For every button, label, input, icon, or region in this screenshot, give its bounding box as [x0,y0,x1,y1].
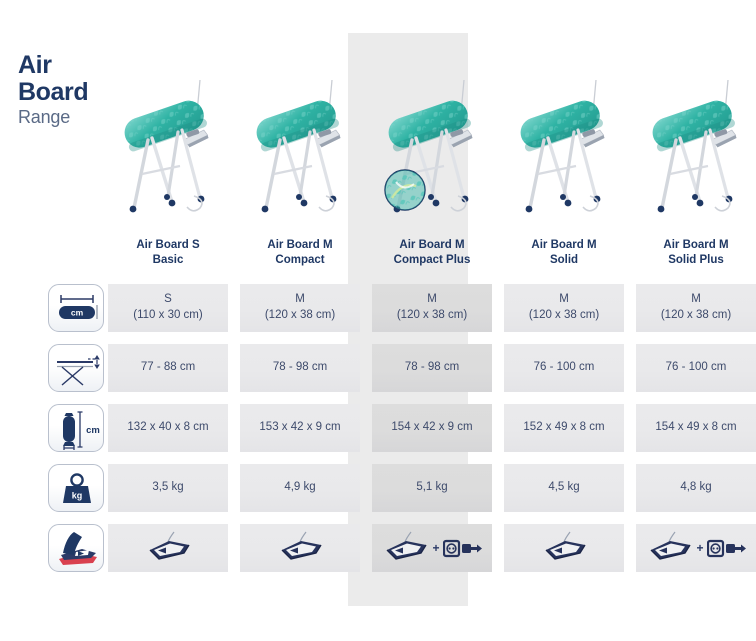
spec-cell-subvalue: (120 x 38 cm) [529,308,599,324]
brand-subtitle: Range [18,108,88,127]
spec-cell-value: 4,9 kg [284,480,315,496]
spec-cell-value: M [691,292,701,308]
spec-cell: 3,5 kg [108,464,228,512]
spec-row-cells: 132 x 40 x 8 cm153 x 42 x 9 cm154 x 42 x… [108,404,756,452]
spec-cell: 132 x 40 x 8 cm [108,404,228,452]
spec-cell-value: 77 - 88 cm [141,360,195,376]
spec-row-cells: 77 - 88 cm78 - 98 cm78 - 98 cm76 - 100 c… [108,344,756,392]
column-header-2: Air Board MCompact [240,238,360,268]
column-header-name-line1: Air Board M [504,238,624,253]
spec-cell-value: 78 - 98 cm [273,360,327,376]
column-header-name-line2: Solid [504,253,624,268]
spec-cell-subvalue: (120 x 38 cm) [397,308,467,324]
spec-cell: M(120 x 38 cm) [372,284,492,332]
product-image-3 [372,78,492,228]
spec-cell: 5,1 kg [372,464,492,512]
spec-cell: 76 - 100 cm [636,344,756,392]
spec-cell-value: 4,5 kg [548,480,579,496]
spec-cell: 153 x 42 x 9 cm [240,404,360,452]
spec-cell-value: 154 x 42 x 9 cm [391,420,472,436]
spec-row-cells: S(110 x 30 cm)M(120 x 38 cm)M(120 x 38 c… [108,284,756,332]
spec-cell: M(120 x 38 cm) [504,284,624,332]
iron-rest-tray-icon [645,531,693,565]
column-header-4: Air Board MSolid [504,238,624,268]
spec-cell-icon-group: + [645,531,746,565]
spec-comparison-table: cm S(110 x 30 cm)M(120 x 38 cm)M(120 x 3… [48,284,756,572]
spec-cell-value: 78 - 98 cm [405,360,459,376]
spec-cell: 4,9 kg [240,464,360,512]
spec-cell-value: M [559,292,569,308]
column-header-name-line1: Air Board M [636,238,756,253]
spec-cell [504,524,624,572]
spec-cell-value: 152 x 49 x 8 cm [523,420,604,436]
ironing-board-teal-cover [636,78,756,228]
spec-cell: + [636,524,756,572]
weight-kg-icon: kg [48,464,104,512]
spec-cell-icon-group: + [381,531,482,565]
ironing-board-teal-cover [240,78,360,228]
spec-cell-value: M [295,292,305,308]
spec-cell-subvalue: (120 x 38 cm) [661,308,731,324]
svg-text:cm: cm [71,308,84,318]
column-header-name-line2: Solid Plus [636,253,756,268]
spec-row-cells: + + [108,524,756,572]
iron-rest-icon [48,524,104,572]
svg-text:kg: kg [72,491,83,501]
spec-cell: M(120 x 38 cm) [240,284,360,332]
product-image-1 [108,78,228,228]
height-adjustment-icon [48,344,104,392]
spec-cell-subvalue: (110 x 30 cm) [133,308,202,324]
spec-cell: 154 x 42 x 9 cm [372,404,492,452]
ironing-board-teal-cover [372,78,492,228]
iron-rest-tray-icon [381,531,429,565]
spec-cell: M(120 x 38 cm) [636,284,756,332]
column-header-name-line1: Air Board M [372,238,492,253]
column-header-name-line2: Compact [240,253,360,268]
spec-row: kg 3,5 kg4,9 kg5,1 kg4,5 kg4,8 kg [48,464,756,512]
spec-cell-value: 154 x 49 x 8 cm [655,420,736,436]
spec-cell: 154 x 49 x 8 cm [636,404,756,452]
spec-cell-value: 76 - 100 cm [666,360,727,376]
product-image-strip [108,78,756,228]
spec-row: cm S(110 x 30 cm)M(120 x 38 cm)M(120 x 3… [48,284,756,332]
power-socket-plug-icon [443,537,483,559]
spec-cell: 78 - 98 cm [372,344,492,392]
product-image-2 [240,78,360,228]
column-header-1: Air Board SBasic [108,238,228,268]
plus-separator: + [696,542,703,554]
iron-rest-tray-icon [540,531,588,565]
brand-title-line1: Air [18,52,88,79]
column-headers: Air Board SBasicAir Board MCompactAir Bo… [108,238,756,268]
board-size-cm-icon: cm [48,284,104,332]
spec-cell: 4,8 kg [636,464,756,512]
folded-dimensions-cm-icon: cm [48,404,104,452]
column-header-name-line1: Air Board M [240,238,360,253]
spec-cell [240,524,360,572]
spec-cell-value: 153 x 42 x 9 cm [259,420,340,436]
column-header-name-line2: Basic [108,253,228,268]
spec-cell: 76 - 100 cm [504,344,624,392]
spec-cell-value: 132 x 40 x 8 cm [127,420,208,436]
brand-title-line2: Board [18,79,88,106]
column-header-name-line2: Compact Plus [372,253,492,268]
spec-cell: 4,5 kg [504,464,624,512]
plus-separator: + [432,542,439,554]
column-header-name-line1: Air Board S [108,238,228,253]
spec-cell-value: 3,5 kg [152,480,183,496]
spec-cell: 77 - 88 cm [108,344,228,392]
spec-cell-value: 4,8 kg [680,480,711,496]
ironing-board-teal-cover [504,78,624,228]
spec-row: cm 132 x 40 x 8 cm153 x 42 x 9 cm154 x 4… [48,404,756,452]
brand-title: Air Board Range [18,52,88,127]
column-header-5: Air Board MSolid Plus [636,238,756,268]
spec-cell-value: 76 - 100 cm [534,360,595,376]
spec-cell-subvalue: (120 x 38 cm) [265,308,335,324]
column-header-3: Air Board MCompact Plus [372,238,492,268]
svg-text:cm: cm [86,425,100,436]
spec-cell-icon-group [276,531,324,565]
spec-cell-icon-group [144,531,192,565]
spec-cell: 78 - 98 cm [240,344,360,392]
spec-row: + + [48,524,756,572]
product-image-5 [636,78,756,228]
spec-cell [108,524,228,572]
power-socket-plug-icon [707,537,747,559]
spec-cell: 152 x 49 x 8 cm [504,404,624,452]
spec-cell-value: 5,1 kg [416,480,447,496]
spec-cell-value: S [164,292,172,308]
spec-row-cells: 3,5 kg4,9 kg5,1 kg4,5 kg4,8 kg [108,464,756,512]
iron-rest-tray-icon [276,531,324,565]
ironing-board-teal-cover [108,78,228,228]
spec-cell-icon-group [540,531,588,565]
spec-cell-value: M [427,292,437,308]
product-image-4 [504,78,624,228]
spec-cell: S(110 x 30 cm) [108,284,228,332]
spec-cell: + [372,524,492,572]
spec-row: 77 - 88 cm78 - 98 cm78 - 98 cm76 - 100 c… [48,344,756,392]
iron-rest-tray-icon [144,531,192,565]
